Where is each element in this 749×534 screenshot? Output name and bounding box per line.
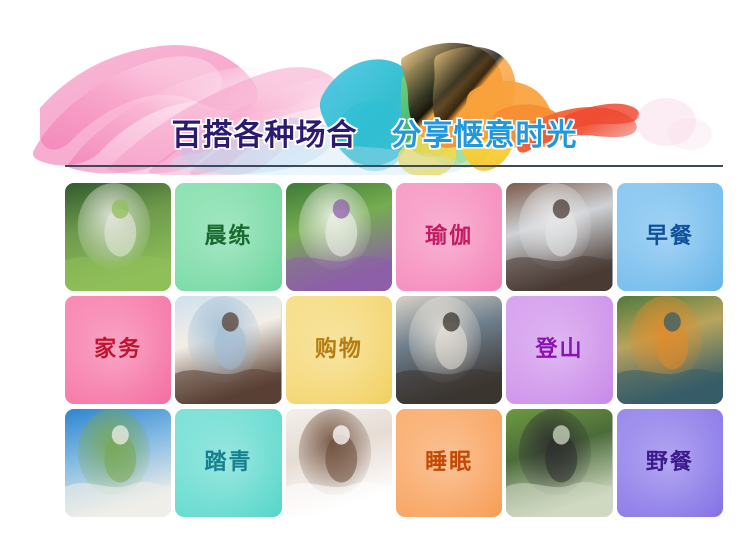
photo-artwork bbox=[175, 296, 281, 404]
tile-label-text: 购物 bbox=[315, 339, 363, 361]
banner-ribbon-artwork bbox=[0, 0, 749, 175]
photo-artwork bbox=[506, 183, 612, 291]
photo-picnic-park[interactable] bbox=[506, 409, 612, 517]
photo-artwork bbox=[65, 409, 171, 517]
photo-artwork bbox=[617, 296, 723, 404]
tile-shopping[interactable]: 购物 bbox=[286, 296, 392, 404]
tile-hiking[interactable]: 登山 bbox=[506, 296, 612, 404]
photo-artwork bbox=[506, 409, 612, 517]
photo-morning-taichi[interactable] bbox=[65, 183, 171, 291]
tile-housework[interactable]: 家务 bbox=[65, 296, 171, 404]
tile-yoga[interactable]: 瑜伽 bbox=[396, 183, 502, 291]
tile-label-text: 睡眠 bbox=[425, 452, 473, 474]
tile-morning-exercise[interactable]: 晨练 bbox=[175, 183, 281, 291]
photo-artwork bbox=[396, 296, 502, 404]
tile-label-text: 瑜伽 bbox=[425, 226, 473, 248]
tile-label-text: 家务 bbox=[94, 339, 142, 361]
header-banner: 百搭各种场合 分享惬意时光 bbox=[0, 0, 749, 175]
scene-grid: 晨练瑜伽早餐家务购物登山踏青睡眠野餐 bbox=[65, 183, 723, 517]
tile-spring-outing[interactable]: 踏青 bbox=[175, 409, 281, 517]
tile-label-text: 踏青 bbox=[204, 452, 252, 474]
tile-label-text: 野餐 bbox=[646, 452, 694, 474]
tile-picnic[interactable]: 野餐 bbox=[617, 409, 723, 517]
tile-label-text: 晨练 bbox=[204, 226, 252, 248]
tile-label-text: 登山 bbox=[535, 339, 583, 361]
photo-hiking-backpacker[interactable] bbox=[617, 296, 723, 404]
photo-cycling-seaside[interactable] bbox=[65, 409, 171, 517]
photo-artwork bbox=[65, 183, 171, 291]
tile-breakfast[interactable]: 早餐 bbox=[617, 183, 723, 291]
tile-sleep[interactable]: 睡眠 bbox=[396, 409, 502, 517]
photo-artwork bbox=[286, 183, 392, 291]
photo-shopping-supermarket[interactable] bbox=[396, 296, 502, 404]
photo-breakfast-coffee[interactable] bbox=[506, 183, 612, 291]
photo-housework-couple[interactable] bbox=[175, 296, 281, 404]
banner-divider-rule bbox=[65, 165, 723, 167]
photo-sleeping-mother-baby[interactable] bbox=[286, 409, 392, 517]
photo-artwork bbox=[286, 409, 392, 517]
photo-yoga-lotus[interactable] bbox=[286, 183, 392, 291]
tile-label-text: 早餐 bbox=[646, 226, 694, 248]
